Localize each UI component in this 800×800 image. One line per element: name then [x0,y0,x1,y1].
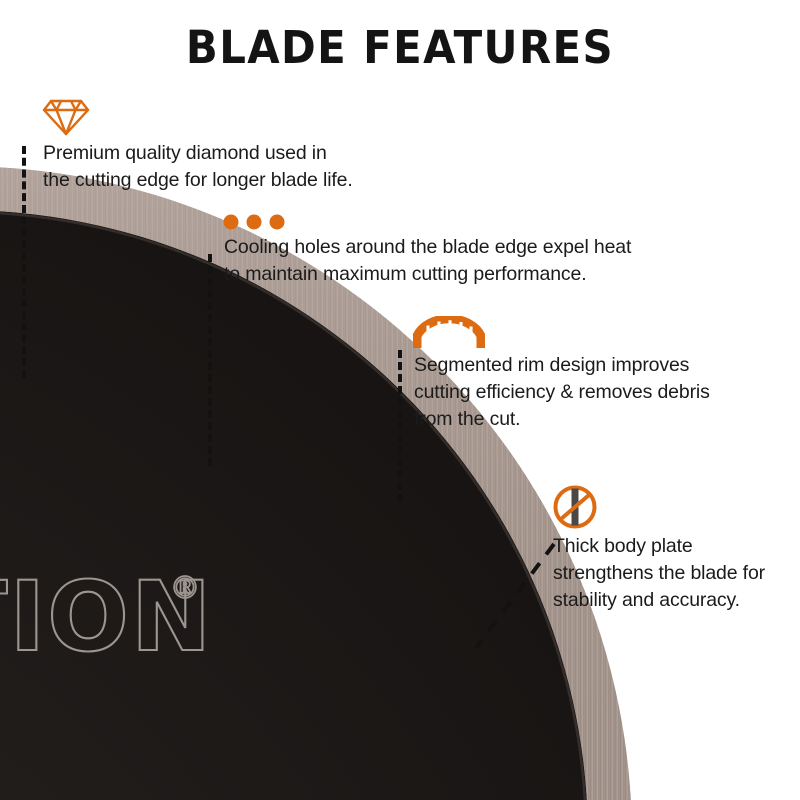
callout-thick-body-plate-text: Thick body plate strengthens the blade f… [553,533,765,614]
blade-brand-text: TION ® [0,561,213,673]
three-dots-icon [223,210,287,232]
page-title: BLADE FEATURES [28,24,772,71]
leader-line-premium-diamond [22,146,26,378]
leader-line-cooling-holes [208,254,212,466]
segmented-rim-icon [413,316,485,350]
no-wobble-plate-icon [551,483,599,531]
svg-text:TION: TION [0,561,213,673]
callout-premium-diamond-text: Premium quality diamond used in the cutt… [43,140,353,194]
callout-segmented-rim-text: Segmented rim design improves cutting ef… [414,352,710,433]
callout-segmented-rim: Segmented rim design improves cutting ef… [413,316,710,433]
callout-thick-body-plate: Thick body plate strengthens the blade f… [551,483,765,614]
callout-cooling-holes-text: Cooling holes around the blade edge expe… [224,234,631,288]
leader-line-segmented-rim [398,350,402,502]
callout-cooling-holes: Cooling holes around the blade edge expe… [223,210,631,288]
callout-premium-diamond: Premium quality diamond used in the cutt… [40,96,353,194]
infographic-page: TION ® BLADE FEATURES Premium quality di… [0,0,800,800]
diamond-gem-icon [40,96,92,138]
svg-text:®: ® [170,571,200,606]
leader-line-thick-body-plate [470,540,560,652]
